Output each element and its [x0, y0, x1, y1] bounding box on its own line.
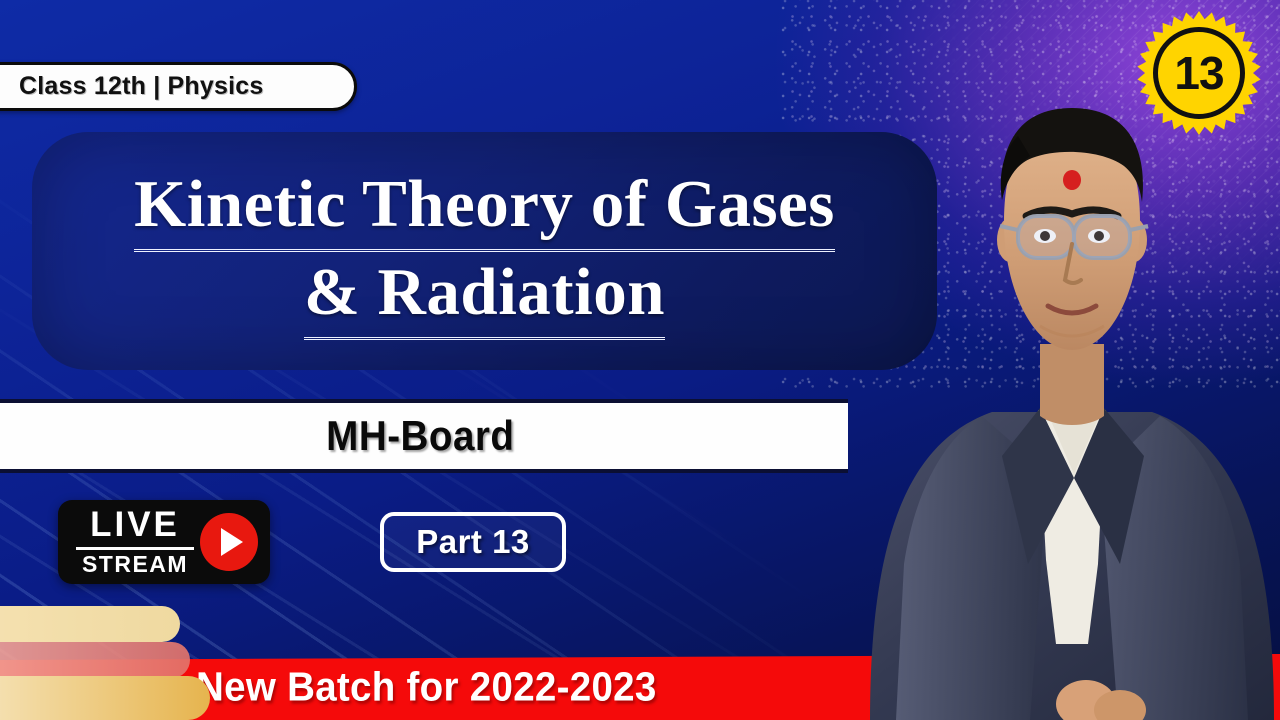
live-stream-text: LIVE STREAM: [76, 508, 194, 575]
deco-bar-cream: [0, 606, 180, 642]
deco-bar-gold: [0, 676, 210, 720]
title-block: Kinetic Theory of Gases & Radiation: [32, 140, 937, 370]
title-line-1: Kinetic Theory of Gases: [134, 170, 835, 252]
episode-circle: 13: [1153, 27, 1245, 119]
board-bar: MH-Board: [0, 399, 848, 473]
live-divider: [76, 547, 194, 550]
title-line-2: & Radiation: [304, 258, 665, 340]
thumbnail-canvas: Class 12th | Physics Kinetic Theory of G…: [0, 0, 1280, 720]
episode-number: 13: [1174, 50, 1223, 96]
deco-bar-red: [0, 642, 190, 678]
live-stream-badge: LIVE STREAM: [58, 500, 270, 584]
play-triangle: [221, 528, 243, 556]
part-badge: Part 13: [380, 512, 566, 572]
episode-number-badge: 13: [1136, 10, 1262, 136]
subject-pill: Class 12th | Physics: [0, 62, 357, 111]
live-label: LIVE: [90, 508, 180, 544]
board-bar-label: MH-Board: [326, 412, 514, 460]
subject-pill-label: Class 12th | Physics: [19, 72, 263, 101]
play-icon: [200, 513, 258, 571]
stream-label: STREAM: [82, 553, 188, 576]
part-badge-label: Part 13: [416, 523, 530, 561]
bottom-banner-text: New Batch for 2022-2023: [196, 664, 657, 711]
